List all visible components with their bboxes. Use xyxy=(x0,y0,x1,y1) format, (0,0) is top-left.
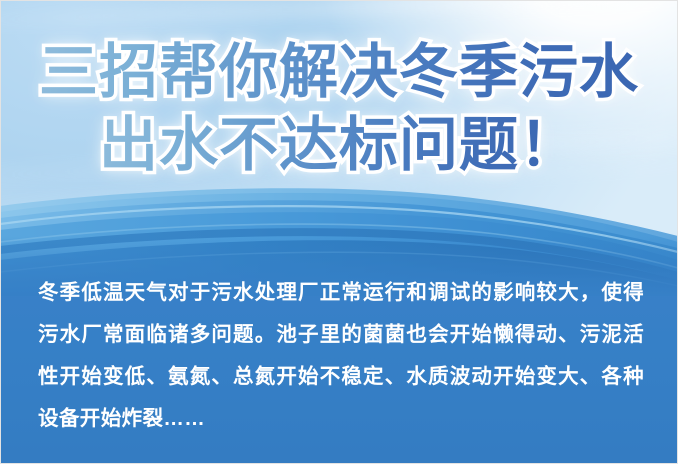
title-line-1-text: 三招帮你解决冬季污水 xyxy=(39,39,639,105)
title-line-2: 出水不达标问题！ 出水不达标问题！ xyxy=(0,109,678,182)
title-line-1: 三招帮你解决冬季污水 三招帮你解决冬季污水 xyxy=(0,36,678,109)
poster-title: 三招帮你解决冬季污水 三招帮你解决冬季污水 出水不达标问题！ 出水不达标问题！ xyxy=(0,36,678,182)
body-paragraph: 冬季低温天气对于污水处理厂正常运行和调试的影响较大，使得污水厂常面临诸多问题。池… xyxy=(38,272,644,440)
title-line-2-text: 出水不达标问题！ xyxy=(99,112,579,178)
light-streak-decoration xyxy=(0,0,678,30)
poster-banner: 三招帮你解决冬季污水 三招帮你解决冬季污水 出水不达标问题！ 出水不达标问题！ … xyxy=(0,0,678,464)
poster-body-copy: 冬季低温天气对于污水处理厂正常运行和调试的影响较大，使得污水厂常面临诸多问题。池… xyxy=(38,272,644,440)
